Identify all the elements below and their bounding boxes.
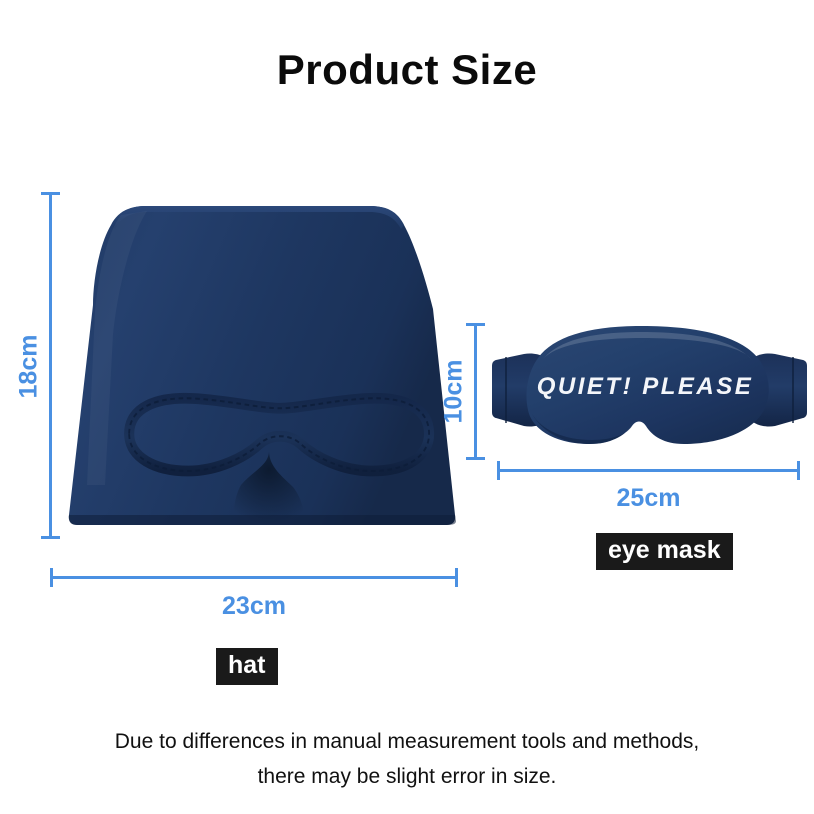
measurement-note-line-2: there may be slight error in size. — [0, 765, 814, 789]
hat-height-label: 18cm — [15, 332, 44, 402]
hat-caption-badge: hat — [216, 648, 278, 685]
hat-bottom-edge — [69, 515, 456, 525]
eye-mask-product-image: QUIET! PLEASE — [492, 318, 807, 468]
measurement-note-line-1: Due to differences in manual measurement… — [0, 730, 814, 754]
page-title: Product Size — [0, 46, 814, 94]
eye-mask-width-dimension-line — [497, 469, 800, 472]
eye-mask-illustration: QUIET! PLEASE — [492, 318, 807, 468]
eye-mask-height-dimension-line — [474, 323, 477, 460]
hat-width-dimension-line — [50, 576, 458, 579]
eye-mask-printed-text: QUIET! PLEASE — [537, 373, 754, 400]
product-size-infographic: Product Size — [0, 0, 814, 814]
eye-mask-caption-badge: eye mask — [596, 533, 733, 570]
hat-product-image — [55, 185, 470, 535]
hat-width-label: 23cm — [0, 592, 508, 621]
hat-height-dimension-line — [49, 192, 52, 539]
eye-mask-height-label: 10cm — [440, 357, 469, 427]
eye-mask-width-label: 25cm — [497, 484, 800, 513]
hat-illustration — [55, 185, 470, 535]
